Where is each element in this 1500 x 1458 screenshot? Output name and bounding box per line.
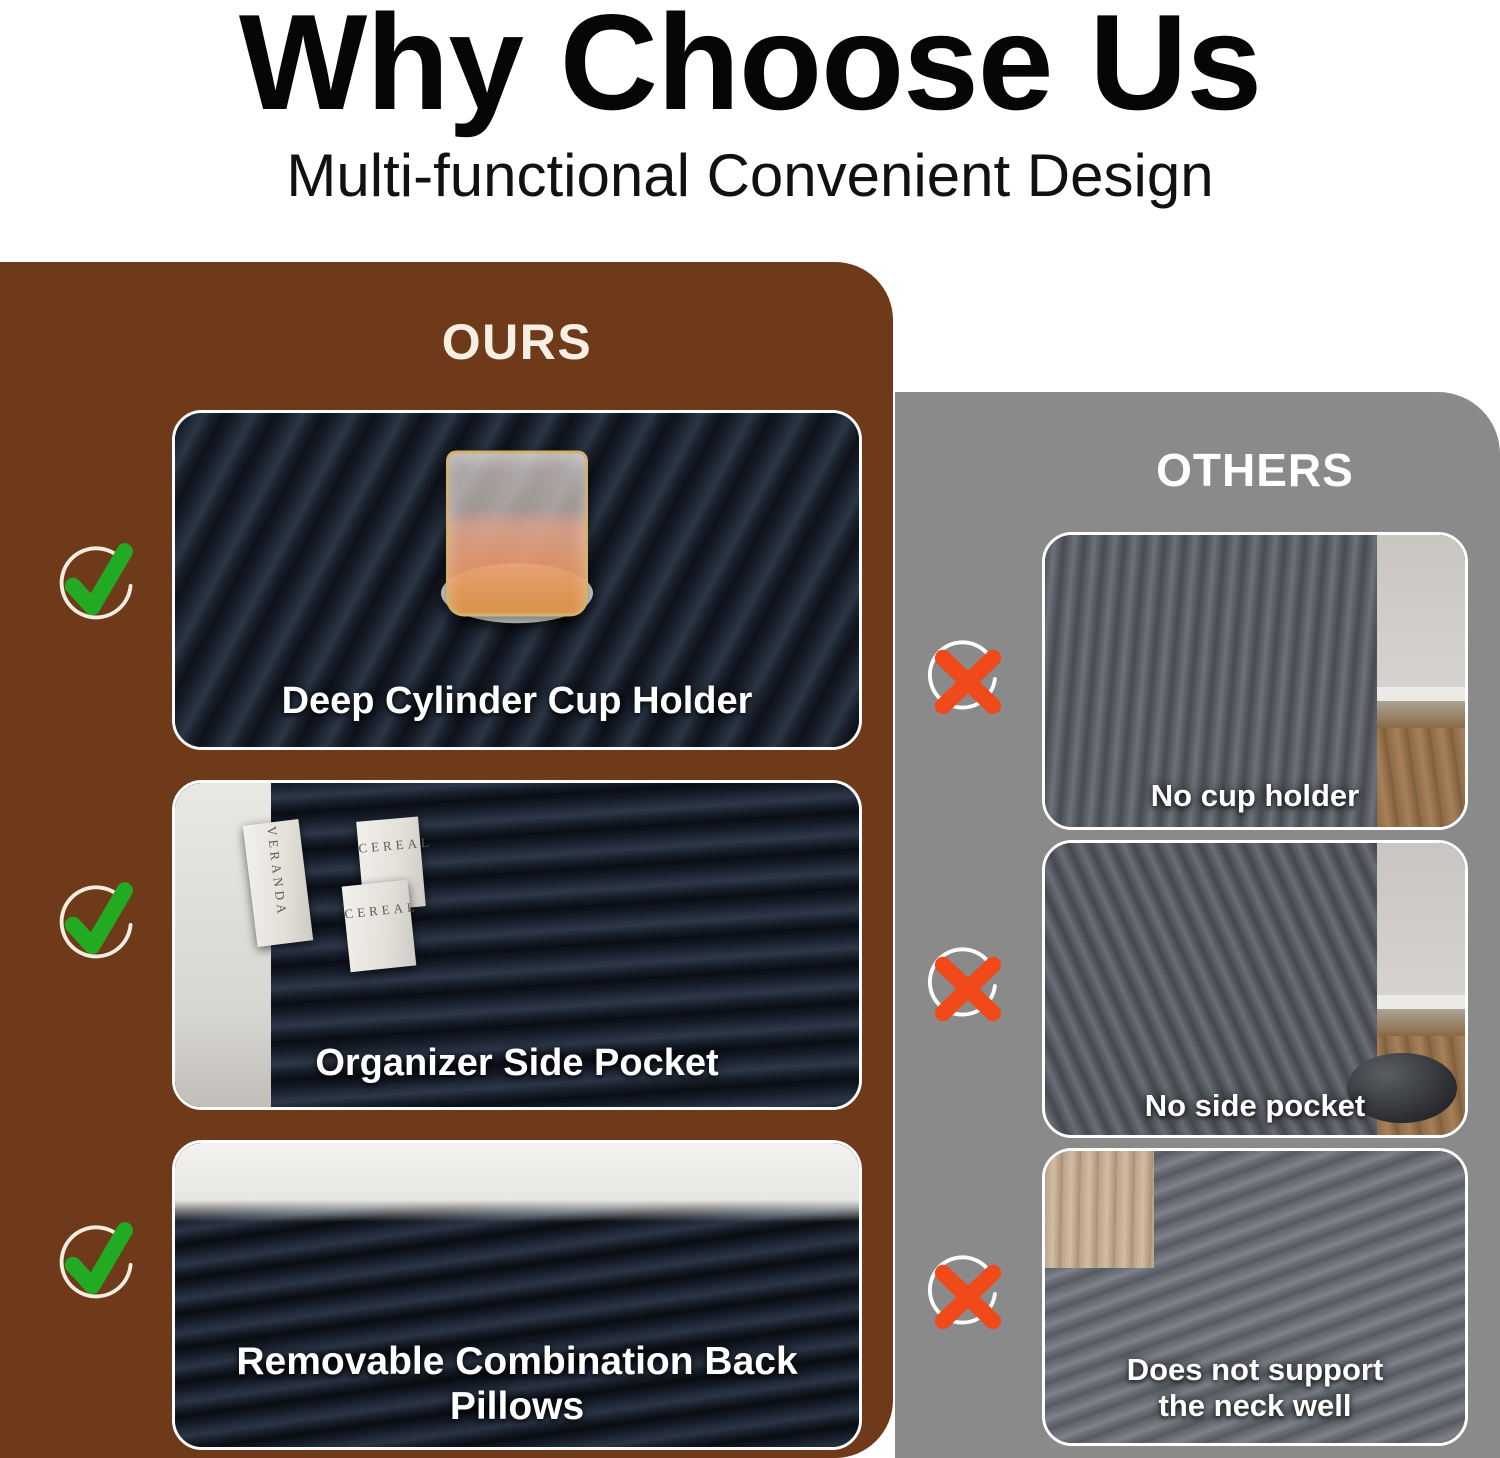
others-feature-label-1: No cup holder (1045, 778, 1465, 813)
page-subtitle: Multi-functional Convenient Design (0, 146, 1500, 206)
ours-feature-label-3: Removable Combination Back Pillows (175, 1340, 859, 1429)
others-feature-label-3-line-1: Does not support (1045, 1352, 1465, 1387)
ours-feature-card-1[interactable]: Deep Cylinder Cup Holder (172, 410, 862, 750)
drinking-glass (446, 451, 588, 617)
photo-backdrop (175, 1143, 859, 1222)
others-feature-card-1[interactable]: No cup holder (1042, 532, 1468, 830)
check-mark-icon (48, 536, 144, 632)
check-mark-icon (48, 875, 144, 971)
room-baseboard (1377, 687, 1465, 702)
ours-feature-card-2[interactable]: VERANDA CEREAL CEREAL Organizer Side Poc… (172, 780, 862, 1110)
others-feature-label-2: No side pocket (1045, 1088, 1465, 1123)
magazine-cereal-bottom: CEREAL (342, 880, 417, 972)
room-baseboard (1377, 995, 1465, 1010)
cross-mark-icon (920, 940, 1016, 1036)
others-feature-card-2[interactable]: No side pocket (1042, 840, 1468, 1138)
ours-heading: OURS (172, 317, 862, 367)
others-feature-card-3[interactable]: Does not support the neck well (1042, 1148, 1468, 1446)
magazine-cereal-top-text: CEREAL (357, 835, 420, 856)
curtain (1045, 1151, 1154, 1268)
cross-mark-icon (920, 1248, 1016, 1344)
ours-feature-card-3[interactable]: Removable Combination Back Pillows (172, 1140, 862, 1450)
others-feature-label-3: Does not support the neck well (1045, 1352, 1465, 1423)
others-feature-label-3-line-2: the neck well (1045, 1388, 1465, 1423)
page-header: Why Choose Us Multi-functional Convenien… (0, 0, 1500, 262)
others-heading: OTHERS (1042, 447, 1468, 493)
cross-mark-icon (920, 633, 1016, 729)
magazine-veranda-text: VERANDA (263, 825, 286, 883)
ours-feature-label-1: Deep Cylinder Cup Holder (175, 680, 859, 723)
check-mark-icon (48, 1215, 144, 1311)
page-title: Why Choose Us (0, 0, 1500, 130)
magazine-cereal-bottom-text: CEREAL (344, 900, 411, 923)
ours-feature-label-2: Organizer Side Pocket (175, 1042, 859, 1085)
